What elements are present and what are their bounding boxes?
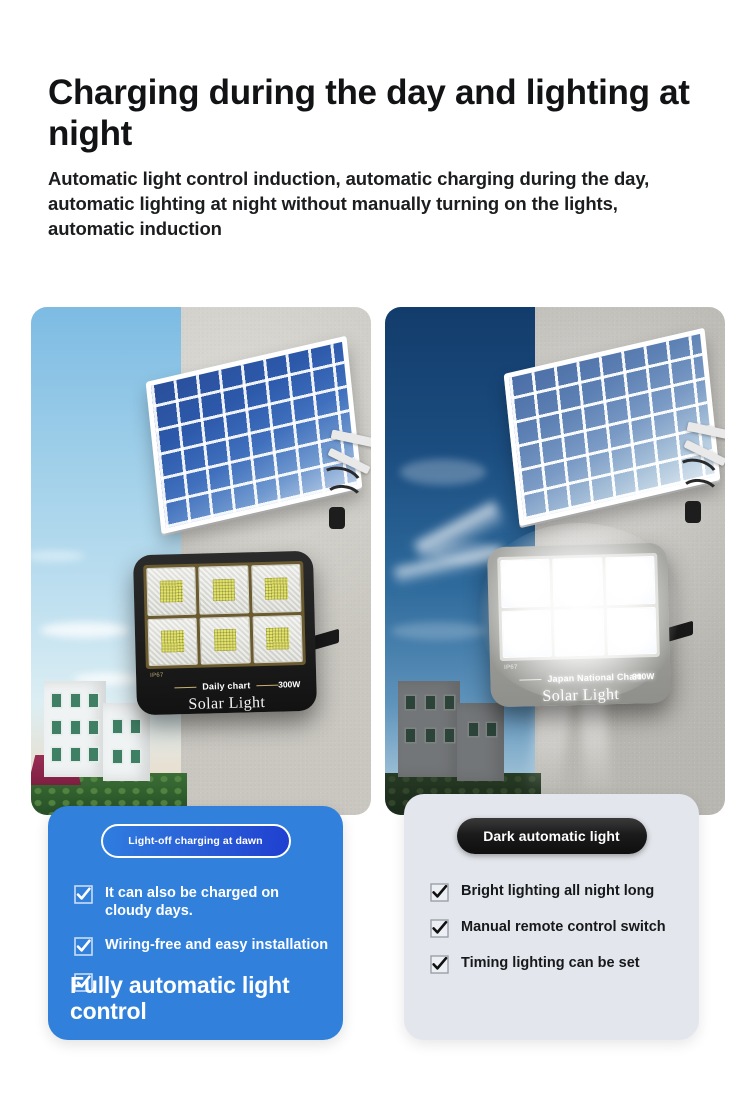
building xyxy=(398,681,461,777)
led-module xyxy=(554,608,605,657)
cloud-shape xyxy=(391,622,487,640)
daytime-pill-button[interactable]: Light-off charging at dawn xyxy=(101,824,291,858)
ip-rating-label: IP67 xyxy=(504,665,518,671)
panel-night: IP67 Japan National Chart 300W Solar Lig… xyxy=(385,307,725,815)
list-item-hidden xyxy=(74,972,329,992)
led-module xyxy=(199,565,250,614)
lamp-brand-label: Solar Light xyxy=(501,685,661,707)
led-module xyxy=(252,614,303,663)
check-icon xyxy=(430,883,449,902)
nameplate-rule xyxy=(519,679,541,681)
led-array xyxy=(497,553,660,661)
lamp-nameplate: IP67 Daily chart 300W Solar Light xyxy=(146,671,307,717)
building xyxy=(457,703,504,781)
nameplate-rule xyxy=(174,686,196,688)
list-item: It can also be charged on cloudy days. xyxy=(74,884,329,920)
flood-lamp-night: IP67 Japan National Chart 300W Solar Lig… xyxy=(487,543,671,708)
led-module xyxy=(251,564,302,613)
lamp-wattage-label: 300W xyxy=(278,679,300,690)
lamp-nameplate: IP67 Japan National Chart 300W Solar Lig… xyxy=(500,663,661,709)
nighttime-feature-list: Bright lighting all night long Manual re… xyxy=(430,882,685,990)
feature-card-nighttime: Dark automatic light Bright lighting all… xyxy=(404,794,699,1040)
cable-plug xyxy=(685,501,701,523)
image-panels: IP67 Daily chart 300W Solar Light xyxy=(0,307,750,827)
nameplate-rule xyxy=(256,684,278,686)
check-icon xyxy=(74,937,93,956)
flood-lamp-day: IP67 Daily chart 300W Solar Light xyxy=(133,551,317,716)
list-item-label: Timing lighting can be set xyxy=(461,954,640,972)
list-item-label: Bright lighting all night long xyxy=(461,882,654,900)
header: Charging during the day and lighting at … xyxy=(48,72,708,241)
page-title: Charging during the day and lighting at … xyxy=(48,72,708,154)
list-item-label: Manual remote control switch xyxy=(461,918,666,936)
list-item: Wiring-free and easy installation xyxy=(74,936,329,956)
list-item-label: Wiring-free and easy installation xyxy=(105,936,328,954)
led-module xyxy=(502,609,553,658)
led-module xyxy=(605,556,656,605)
led-module xyxy=(146,567,197,616)
cloud-shape xyxy=(400,459,486,485)
cloud-shape xyxy=(31,551,85,561)
led-module xyxy=(200,616,251,665)
lamp-model-label: Daily chart xyxy=(202,680,250,691)
list-item: Bright lighting all night long xyxy=(430,882,685,902)
cable-plug xyxy=(329,507,345,529)
nighttime-pill-button[interactable]: Dark automatic light xyxy=(457,818,647,854)
lamp-wattage-label: 300W xyxy=(632,671,654,682)
building xyxy=(44,681,107,777)
feature-card-daytime: Light-off charging at dawn It can also b… xyxy=(48,806,343,1040)
list-item: Timing lighting can be set xyxy=(430,954,685,974)
cloud-shape xyxy=(40,622,130,638)
led-module xyxy=(148,617,199,666)
led-module xyxy=(500,559,551,608)
check-icon xyxy=(430,919,449,938)
panel-day: IP67 Daily chart 300W Solar Light xyxy=(31,307,371,815)
check-icon xyxy=(74,973,93,992)
lamp-brand-label: Solar Light xyxy=(147,693,307,715)
check-icon xyxy=(74,885,93,904)
led-module xyxy=(553,557,604,606)
product-feature-page: Charging during the day and lighting at … xyxy=(0,0,750,1101)
list-item-label: It can also be charged on cloudy days. xyxy=(105,884,329,920)
building xyxy=(103,703,150,781)
ip-rating-label: IP67 xyxy=(150,673,164,679)
led-array xyxy=(143,561,306,669)
check-icon xyxy=(430,955,449,974)
lamp-model-label: Japan National Chart xyxy=(547,671,641,683)
page-subtitle: Automatic light control induction, autom… xyxy=(48,166,673,241)
daytime-feature-list: It can also be charged on cloudy days. W… xyxy=(74,884,329,1008)
list-item: Manual remote control switch xyxy=(430,918,685,938)
led-module xyxy=(606,606,657,655)
